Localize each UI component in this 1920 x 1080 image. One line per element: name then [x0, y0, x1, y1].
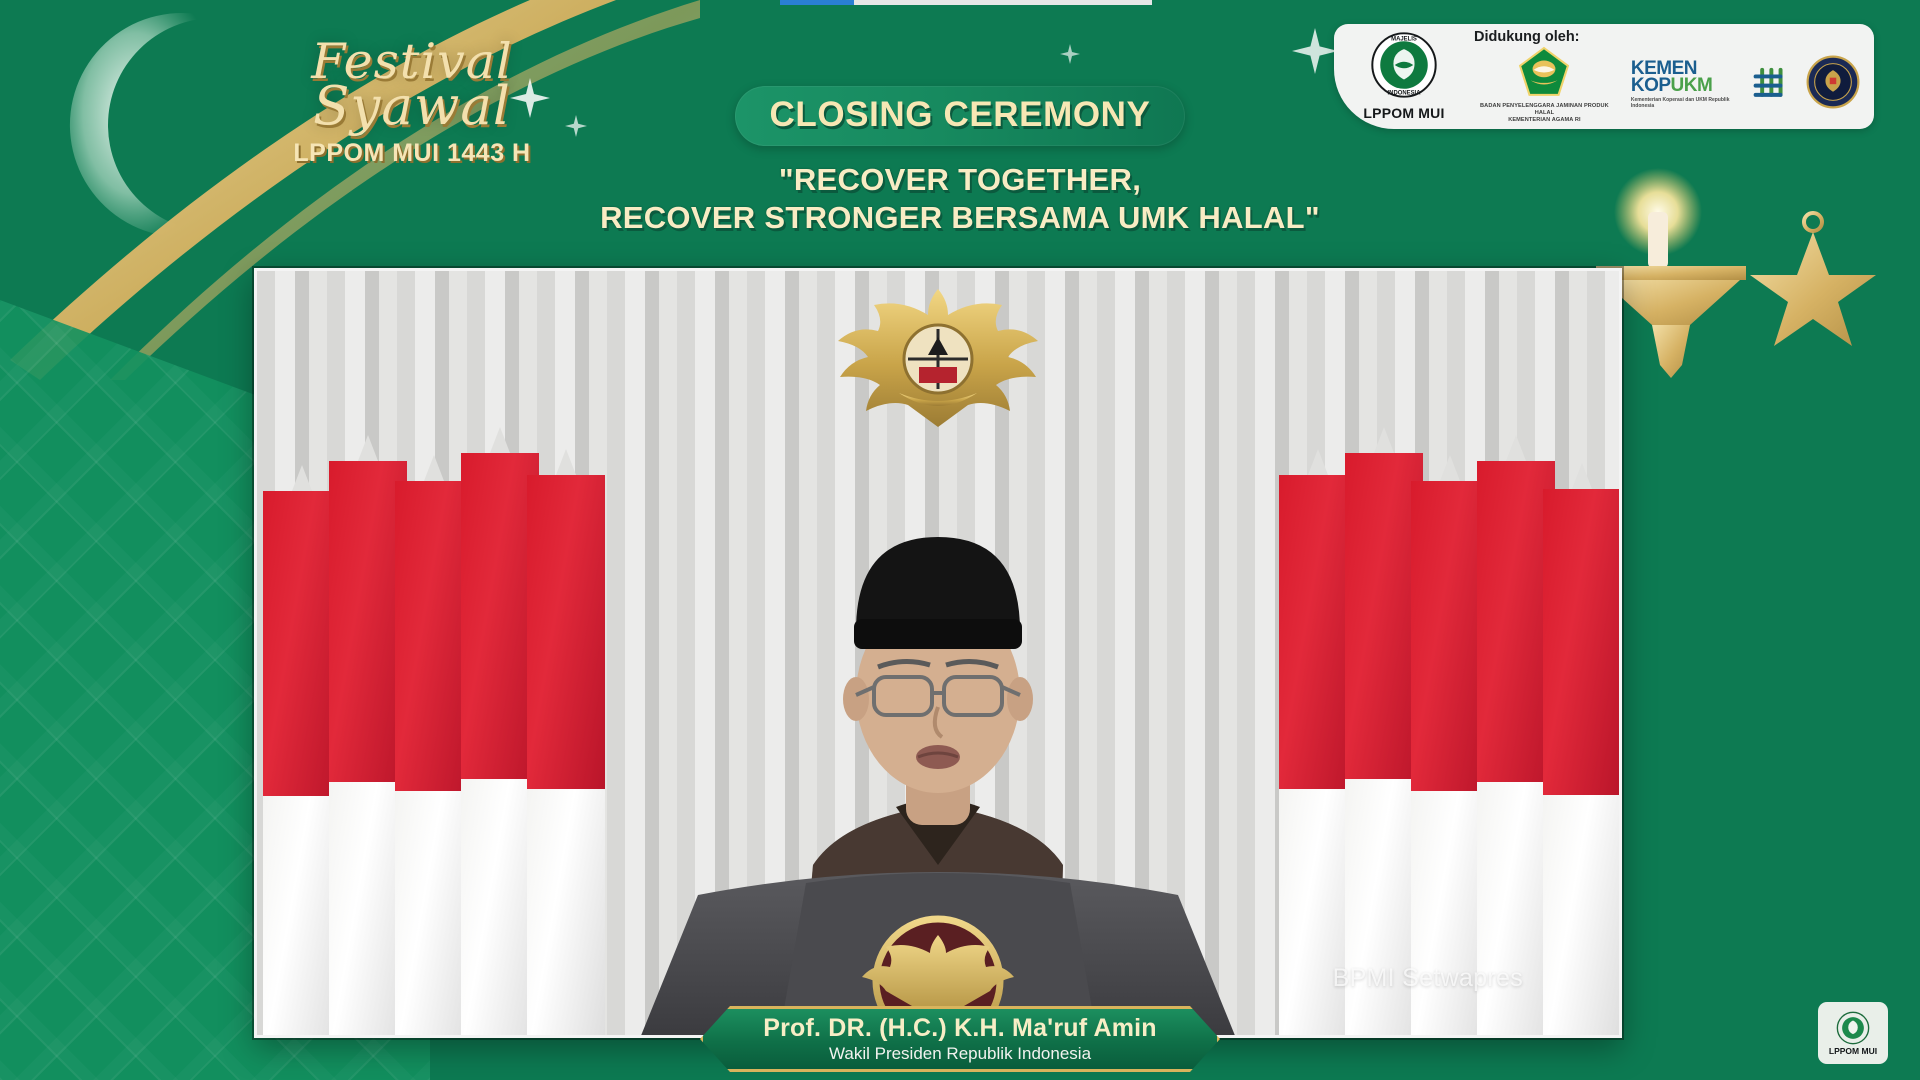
- festival-logo: Festival Syawal LPPOM MUI 1443 H: [272, 38, 552, 168]
- indonesian-flag: [1543, 463, 1621, 1035]
- corner-badge-label: LPPOM MUI: [1829, 1046, 1877, 1056]
- supported-by-label: Didukung oleh:: [1474, 29, 1860, 45]
- kemenkopukm-line2b: UKM: [1671, 75, 1713, 96]
- sponsor-bpjph-sublabel: KEMENTERIAN AGAMA RI: [1474, 117, 1615, 124]
- government-round-seal-icon: [1806, 55, 1860, 109]
- kemenkopukm-line2a: KOP: [1631, 75, 1671, 96]
- kemenkopukm-weave-icon: [1751, 64, 1790, 106]
- crescent-moon-decoration: [40, 0, 300, 250]
- sponsor-government-seal: [1806, 55, 1860, 114]
- bpjph-pentagon-seal-icon: [1518, 46, 1570, 98]
- sponsor-bar: MAJELIS INDONESIA LPPOM MUI Didukung ole…: [1334, 24, 1874, 129]
- festival-logo-line3: LPPOM MUI 1443 H: [272, 139, 552, 168]
- broadcast-backdrop: Festival Syawal LPPOM MUI 1443 H CLOSING…: [0, 0, 1920, 1080]
- svg-text:MAJELIS: MAJELIS: [1391, 37, 1417, 43]
- festival-logo-line2: Syawal: [272, 80, 552, 133]
- closing-ceremony-badge: CLOSING CEREMONY: [735, 86, 1184, 146]
- theme-line-2: RECOVER STRONGER BERSAMA UMK HALAL": [560, 200, 1360, 236]
- player-progress-track[interactable]: [780, 0, 1152, 5]
- player-progress-fill: [780, 0, 854, 5]
- sponsor-lppom-mui: MAJELIS INDONESIA LPPOM MUI: [1352, 32, 1456, 121]
- indonesian-flag: [527, 449, 605, 1035]
- speaker-name: Prof. DR. (H.C.) K.H. Ma'ruf Amin: [763, 1014, 1157, 1043]
- kemenkopukm-sublabel: Kementerian Koperasi dan UKM Republik In…: [1631, 97, 1747, 110]
- closing-ceremony-label: CLOSING CEREMONY: [769, 95, 1150, 134]
- lppom-mui-seal-icon: MAJELIS INDONESIA: [1371, 32, 1437, 98]
- video-watermark: BPMI Setwapres: [1333, 964, 1523, 993]
- lppom-mui-badge-icon: [1836, 1011, 1870, 1045]
- speaker-role: Wakil Presiden Republik Indonesia: [829, 1044, 1091, 1064]
- svg-text:INDONESIA: INDONESIA: [1388, 91, 1422, 97]
- headline-block: CLOSING CEREMONY "RECOVER TOGETHER, RECO…: [560, 86, 1360, 236]
- sponsor-lppom-label: LPPOM MUI: [1352, 105, 1456, 121]
- sponsor-bpjph-label: BADAN PENYELENGGARA JAMINAN PRODUK HALAL: [1474, 103, 1615, 117]
- sparkle-icon: [1060, 44, 1080, 64]
- speaker-nameplate: Prof. DR. (H.C.) K.H. Ma'ruf Amin Wakil …: [700, 1006, 1220, 1072]
- video-player-frame[interactable]: BPMI Setwapres: [254, 268, 1622, 1038]
- theme-line-1: "RECOVER TOGETHER,: [560, 162, 1360, 198]
- sponsor-kemenkopukm: KEMEN KOPUKM Kementerian Koperasi dan UK…: [1631, 60, 1790, 110]
- corner-lppom-badge: LPPOM MUI: [1818, 1002, 1888, 1064]
- sparkle-icon: [1292, 28, 1338, 74]
- sponsor-bpjph: BADAN PENYELENGGARA JAMINAN PRODUK HALAL…: [1474, 46, 1615, 124]
